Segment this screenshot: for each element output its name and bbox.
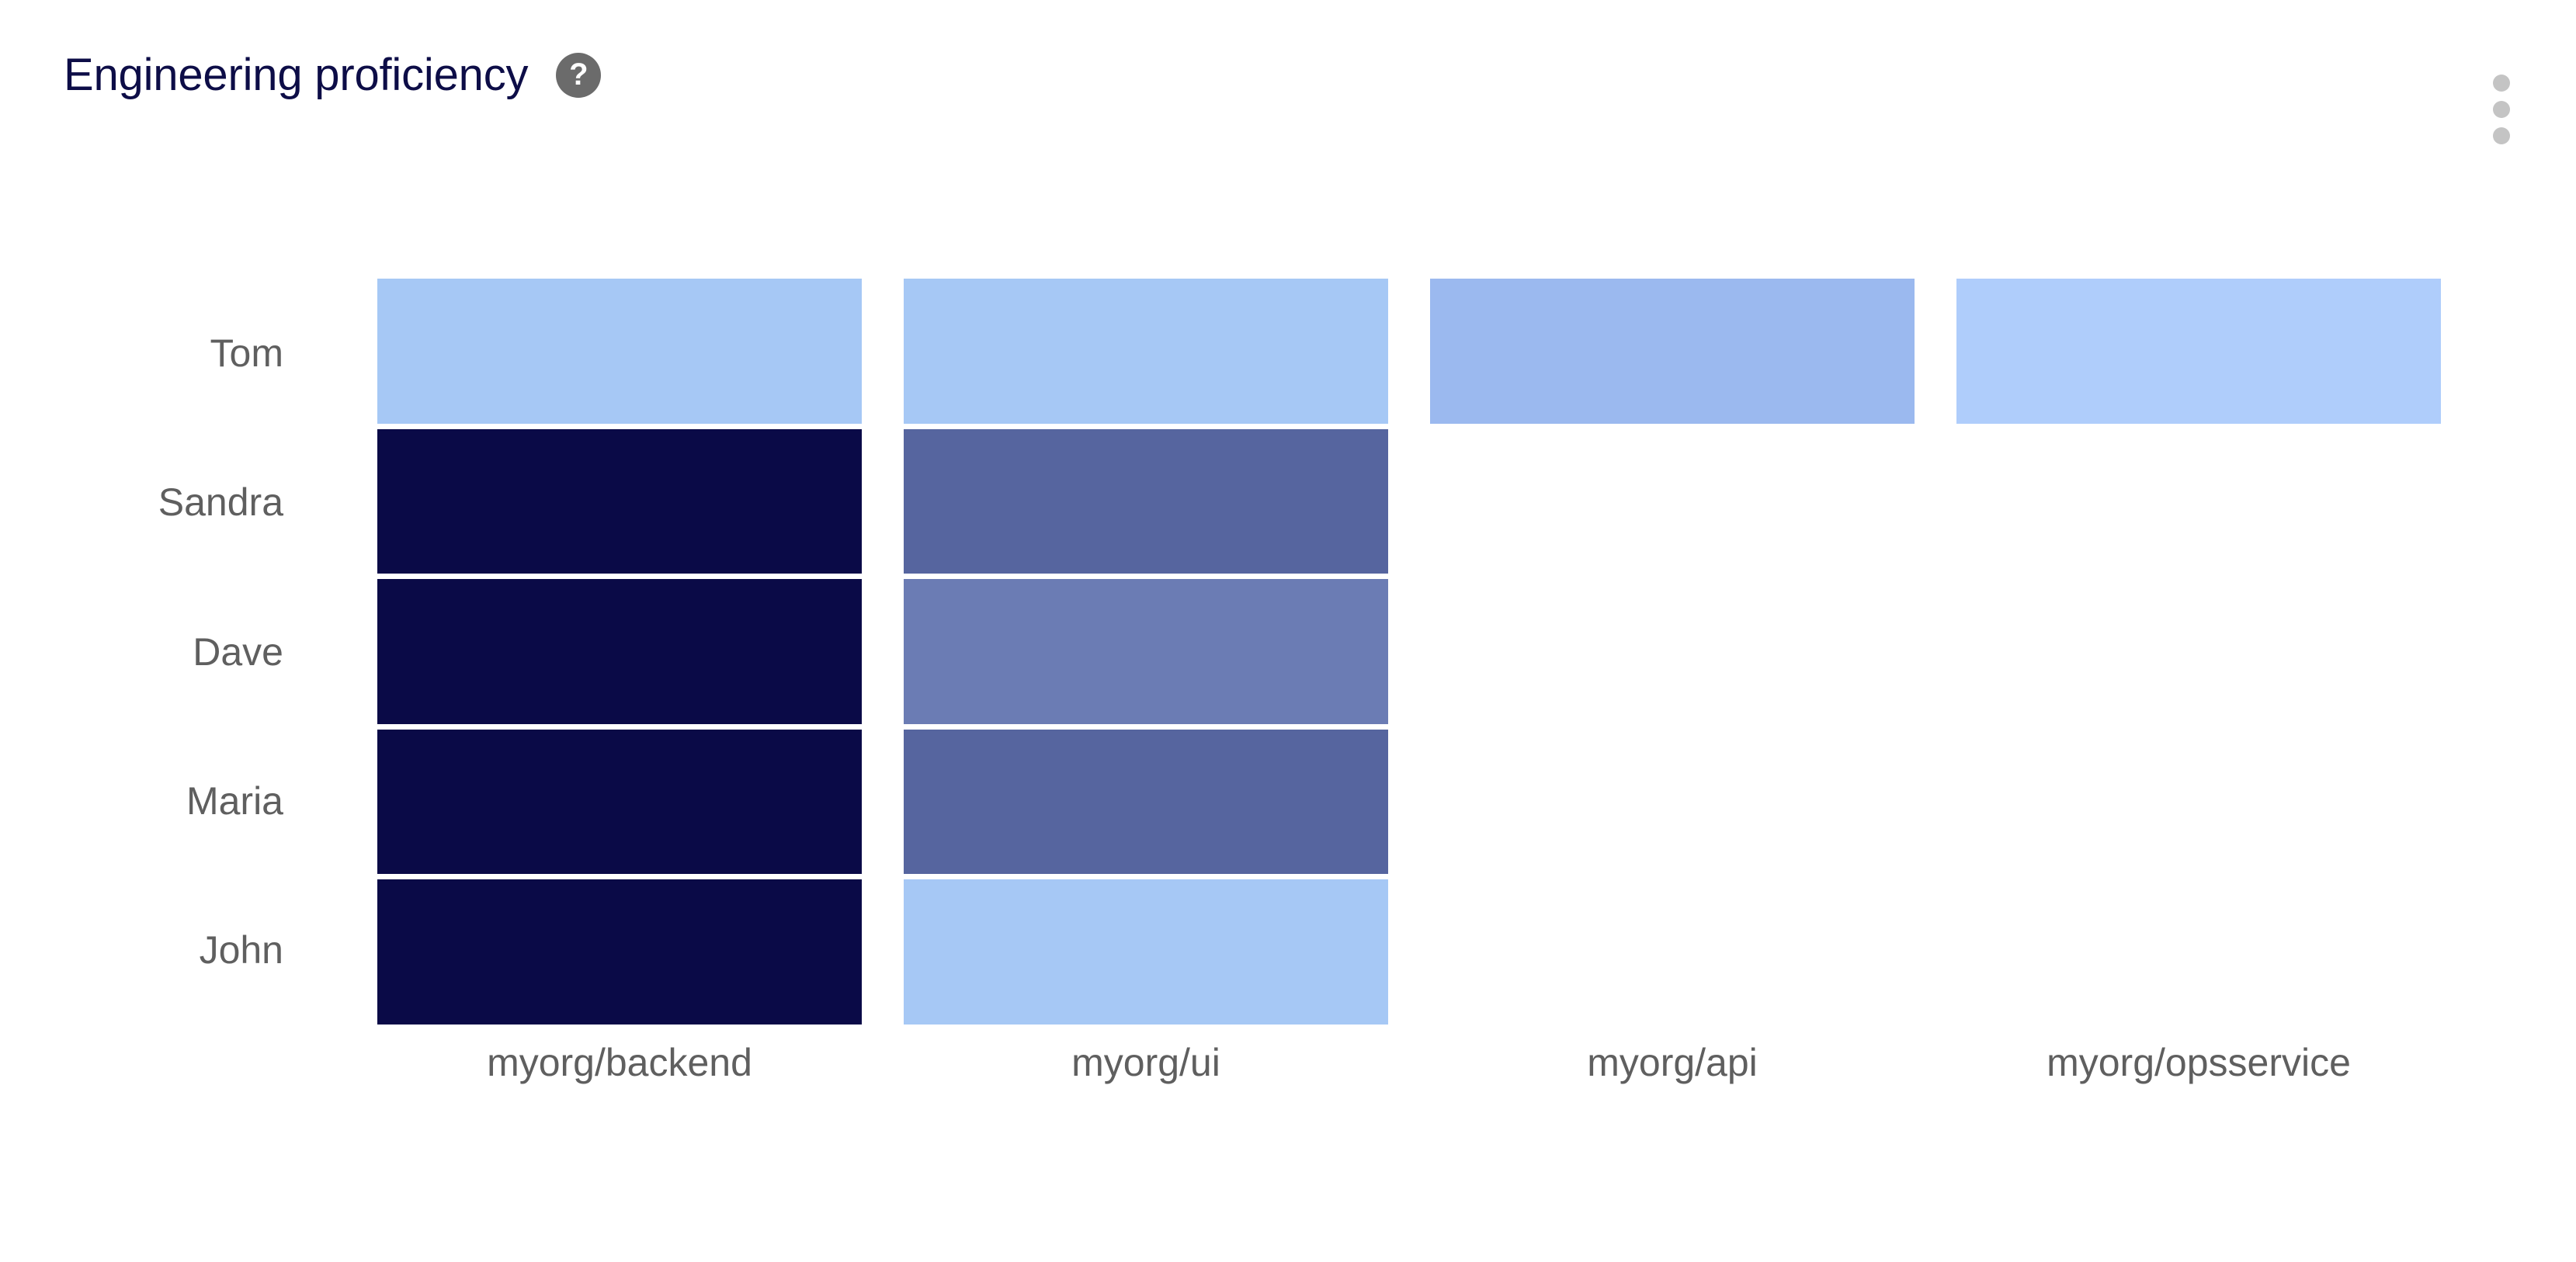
mosaic-cell-john-myorg-backend[interactable] [377,879,862,1025]
mosaic-cell-tom-myorg-ui[interactable] [904,279,1388,424]
row-label-john: John [0,875,283,1025]
mosaic-cell-john-myorg-opsservice [1956,879,2441,1025]
mosaic-cell-dave-myorg-ui[interactable] [904,579,1388,724]
mosaic-cell-sandra-myorg-ui[interactable] [904,429,1388,574]
row-axis-labels: TomSandraDaveMariaJohn [0,279,283,1025]
mosaic-chart: TomSandraDaveMariaJohn myorg/backendmyor… [0,0,2576,1262]
column-label-myorg-opsservice: myorg/opsservice [1956,1040,2441,1085]
mosaic-cell-sandra-myorg-backend[interactable] [377,429,862,574]
mosaic-cell-maria-myorg-ui[interactable] [904,730,1388,875]
column-label-myorg-ui: myorg/ui [904,1040,1388,1085]
mosaic-cell-dave-myorg-opsservice [1956,579,2441,724]
mosaic-cell-sandra-myorg-api [1430,429,1915,574]
mosaic-cell-tom-myorg-api[interactable] [1430,279,1915,424]
mosaic-cell-tom-myorg-backend[interactable] [377,279,862,424]
mosaic-cell-maria-myorg-backend[interactable] [377,730,862,875]
mosaic-cell-sandra-myorg-opsservice [1956,429,2441,574]
mosaic-cell-maria-myorg-api [1430,730,1915,875]
mosaic-cell-dave-myorg-backend[interactable] [377,579,862,724]
mosaic-cell-john-myorg-ui[interactable] [904,879,1388,1025]
mosaic-column-myorg-opsservice [1956,279,2441,1025]
column-label-myorg-api: myorg/api [1430,1040,1915,1085]
mosaic-cell-maria-myorg-opsservice [1956,730,2441,875]
column-label-myorg-backend: myorg/backend [377,1040,862,1085]
engineering-proficiency-widget: Engineering proficiency ? TomSandraDaveM… [0,0,2576,1262]
row-label-dave: Dave [0,577,283,726]
mosaic-plot [377,279,2441,1025]
mosaic-cell-john-myorg-api [1430,879,1915,1025]
mosaic-cell-tom-myorg-opsservice[interactable] [1956,279,2441,424]
mosaic-column-myorg-ui [904,279,1388,1025]
column-axis-labels: myorg/backendmyorg/uimyorg/apimyorg/opss… [377,1040,2441,1110]
row-label-tom: Tom [0,279,283,428]
mosaic-column-myorg-api [1430,279,1915,1025]
mosaic-cell-dave-myorg-api [1430,579,1915,724]
row-label-maria: Maria [0,726,283,875]
mosaic-column-myorg-backend [377,279,862,1025]
row-label-sandra: Sandra [0,428,283,577]
